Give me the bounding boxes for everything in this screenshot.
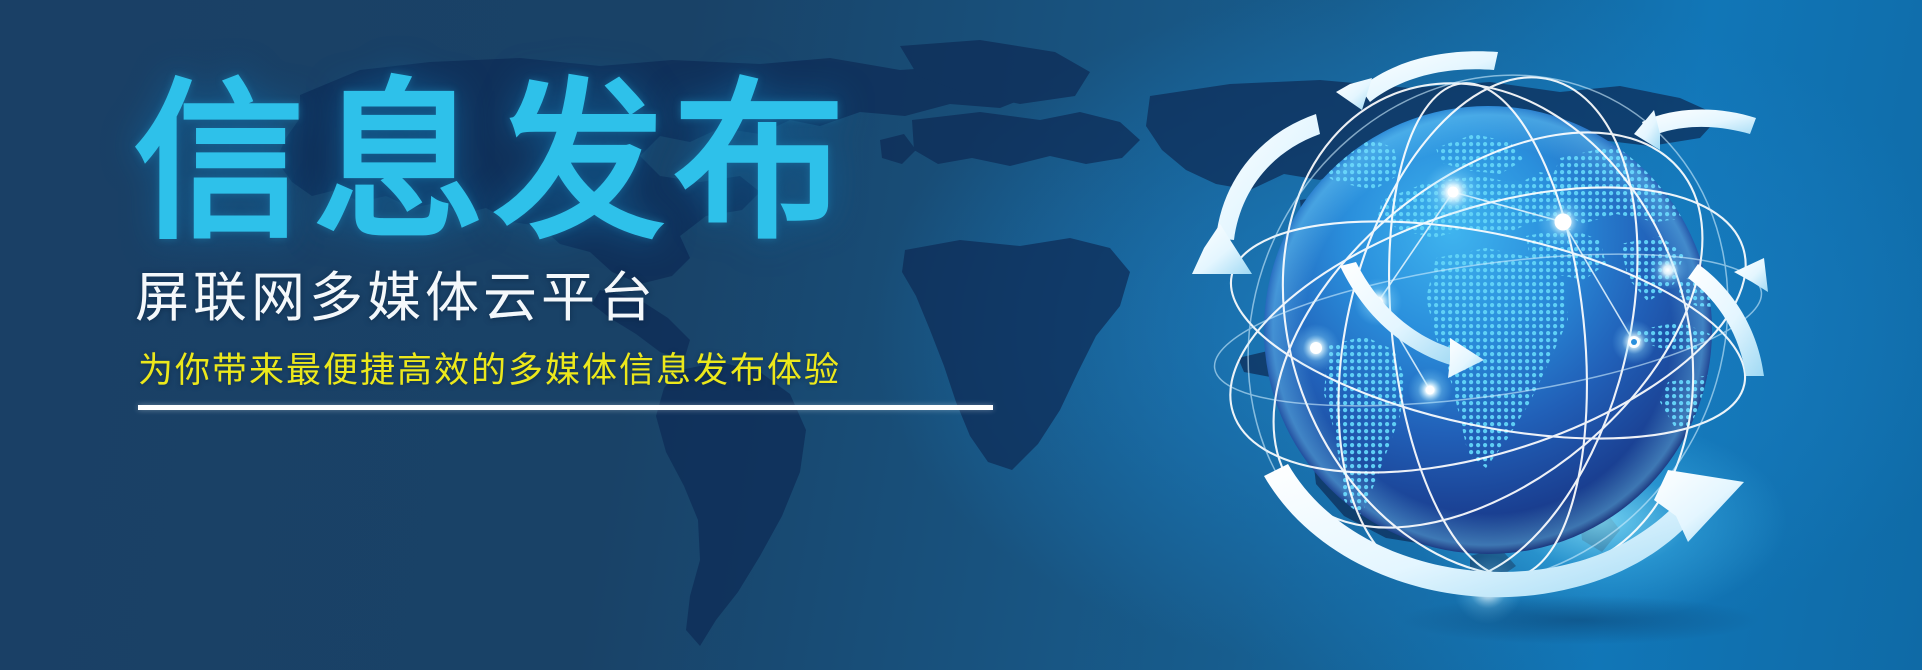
globe-network-icon bbox=[1168, 30, 1808, 670]
promo-banner: 信息发布 屏联网多媒体云平台 为你带来最便捷高效的多媒体信息发布体验 bbox=[0, 0, 1922, 670]
banner-subtitle: 屏联网多媒体云平台 bbox=[135, 268, 1125, 328]
orbit-arrow-left bbox=[1336, 51, 1498, 110]
banner-tagline: 为你带来最便捷高效的多媒体信息发布体验 bbox=[138, 350, 1125, 392]
page-title: 信息发布 bbox=[133, 74, 1125, 252]
title-underline bbox=[138, 405, 993, 410]
orbit-arrow-right bbox=[1634, 109, 1756, 150]
banner-text-block: 信息发布 屏联网多媒体云平台 为你带来最便捷高效的多媒体信息发布体验 bbox=[125, 74, 1125, 410]
